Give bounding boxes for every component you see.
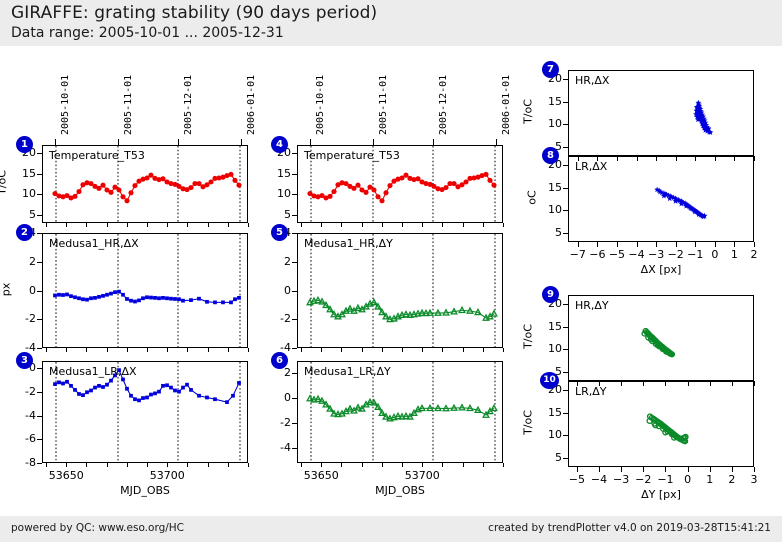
x-tick-mark [463,463,464,467]
date-tick-mark [496,139,497,145]
x-tick-mark [710,381,711,386]
y-tick-mark [563,165,568,166]
x-tick-mark [187,463,188,467]
y-tick-label: 5 [534,226,562,239]
x-tick-mark [402,463,403,467]
plot-panel-3: Medusa1_LR,ΔX [42,361,248,463]
x-tick-label: 2 [740,248,768,261]
plot-canvas-8 [569,157,753,241]
x-tick-mark [676,156,677,161]
x-tick-mark [715,242,716,247]
y-tick-mark [37,368,42,369]
x-tick-mark [715,156,716,161]
x-tick-mark [643,381,644,386]
y-tick-label: 0 [263,284,291,297]
y-tick-mark [37,439,42,440]
x-tick-mark [127,463,128,467]
x-tick-mark [167,463,168,467]
plot-frame-4: Temperature_T53 [297,145,503,223]
plot-panel-9: HR,ΔY [568,295,754,381]
date-tick-mark [118,139,119,145]
y-tick-label: -6 [8,432,36,445]
y-tick-mark [37,174,42,175]
plot-frame-3: Medusa1_LR,ΔX [42,361,248,463]
date-tick-mark [373,139,374,145]
x-tick-mark [688,381,689,386]
y-tick-mark [37,262,42,263]
y-tick-mark [292,194,297,195]
y-tick-mark [292,398,297,399]
x-tick-mark [734,156,735,161]
y-tick-label: 5 [534,451,562,464]
plot-canvas-2 [43,234,247,347]
y-tick-mark [292,348,297,349]
x-tick-mark [86,223,87,227]
y-tick-label: 10 [534,428,562,441]
plot-canvas-6 [298,362,502,462]
x-tick-mark [321,463,322,467]
x-tick-label: 53700 [396,469,448,482]
x-tick-mark [167,223,168,227]
x-axis-label: ΔX [px] [568,263,754,276]
x-tick-mark [665,467,666,472]
x-tick-mark [754,467,755,472]
panel-badge-2[interactable]: 2 [16,224,33,241]
y-axis-label: T/oC [522,393,535,453]
x-tick-mark [127,348,128,352]
data-range-subtitle: Data range: 2005-10-01 ... 2005-12-31 [11,25,284,41]
x-tick-mark [46,223,47,227]
x-tick-mark [321,348,322,352]
x-tick-mark [503,223,504,227]
x-tick-mark [695,242,696,247]
y-tick-mark [563,435,568,436]
x-tick-mark [402,348,403,352]
x-tick-mark [442,223,443,227]
y-tick-label: 10 [263,187,291,200]
x-tick-mark [248,348,249,352]
date-tick-label: 2006-01-01 [246,75,257,135]
plot-canvas-10 [569,382,753,466]
x-tick-mark [578,156,579,161]
y-tick-mark [37,319,42,320]
x-tick-mark [107,463,108,467]
y-tick-mark [37,233,42,234]
y-tick-label: 15 [8,167,36,180]
panel-badge-9[interactable]: 9 [542,286,559,303]
y-tick-mark [37,153,42,154]
plot-panel-2: Medusa1_HR,ΔX [42,233,248,348]
x-tick-mark [66,223,67,227]
date-tick-mark [178,139,179,145]
x-tick-mark [710,467,711,472]
x-tick-mark [362,348,363,352]
y-tick-mark [292,215,297,216]
y-tick-label: -2 [263,312,291,325]
x-tick-mark [442,348,443,352]
date-tick-label: 2005-11-01 [123,75,134,135]
x-axis-label: ΔY [px] [568,488,754,501]
x-tick-mark [86,463,87,467]
y-tick-label: 15 [534,406,562,419]
x-tick-label: 3 [740,473,768,486]
x-axis-label: MJD_OBS [42,484,248,497]
x-tick-mark [321,223,322,227]
x-tick-mark [665,381,666,386]
y-tick-mark [563,390,568,391]
x-tick-mark [617,156,618,161]
y-tick-label: 10 [534,342,562,355]
plot-frame-10: LR,ΔY [568,381,754,467]
x-axis-label: MJD_OBS [297,484,503,497]
x-tick-mark [46,348,47,352]
panel-badge-3[interactable]: 3 [16,352,33,369]
plot-canvas-5 [298,234,502,347]
x-tick-mark [599,467,600,472]
page-footer: powered by QC: www.eso.org/HC created by… [0,516,782,542]
y-axis-label: px [0,259,13,319]
y-tick-mark [292,262,297,263]
plot-panel-5: Medusa1_HR,ΔY [297,233,503,348]
y-tick-label: 15 [263,167,291,180]
plot-panel-4: Temperature_T53 [297,145,503,223]
x-tick-mark [599,381,600,386]
y-tick-mark [563,349,568,350]
y-tick-mark [292,423,297,424]
x-tick-mark [228,463,229,467]
y-axis-label: T/oC [522,307,535,367]
plot-frame-5: Medusa1_HR,ΔY [297,233,503,348]
y-tick-label: -2 [8,385,36,398]
y-tick-label: 10 [534,117,562,130]
x-tick-mark [621,467,622,472]
plot-panel-6: Medusa1_LR,ΔY [297,361,503,463]
y-tick-label: -4 [8,409,36,422]
y-tick-mark [563,79,568,80]
y-tick-mark [563,147,568,148]
x-tick-mark [248,463,249,467]
date-tick-label: 2005-10-01 [315,75,326,135]
date-tick-label: 2005-12-01 [438,75,449,135]
y-tick-label: 5 [263,208,291,221]
x-tick-mark [382,223,383,227]
y-tick-mark [292,174,297,175]
date-tick-label: 2005-10-01 [60,75,71,135]
x-tick-mark [341,348,342,352]
y-tick-mark [292,233,297,234]
x-tick-mark [676,242,677,247]
panel-badge-1[interactable]: 1 [16,136,33,153]
plot-frame-1: Temperature_T53 [42,145,248,223]
y-tick-mark [37,291,42,292]
plot-panel-8: LR,ΔX [568,156,754,242]
trend-plot-page: GIRAFFE: grating stability (90 days peri… [0,0,782,542]
x-tick-mark [463,223,464,227]
x-tick-mark [656,156,657,161]
plot-canvas-9 [569,296,753,380]
x-tick-mark [754,156,755,161]
x-tick-mark [187,223,188,227]
y-axis-label: T/oC [0,153,9,213]
plot-canvas-1 [43,146,247,222]
x-tick-mark [86,348,87,352]
x-tick-mark [107,348,108,352]
plot-panel-7: HR,ΔX [568,70,754,156]
date-tick-mark [433,139,434,145]
y-tick-label: 10 [8,187,36,200]
date-tick-label: 2006-01-01 [501,75,512,135]
x-tick-mark [208,223,209,227]
x-tick-mark [483,348,484,352]
panel-badge-8[interactable]: 8 [542,147,559,164]
date-tick-mark [241,139,242,145]
y-tick-mark [563,304,568,305]
x-tick-mark [147,348,148,352]
plot-panel-1: Temperature_T53 [42,145,248,223]
x-tick-mark [228,223,229,227]
x-tick-mark [483,463,484,467]
y-tick-label: -2 [263,416,291,429]
x-tick-mark [597,156,598,161]
x-tick-mark [46,463,47,467]
date-tick-mark [55,139,56,145]
page-title: GIRAFFE: grating stability (90 days peri… [11,3,377,23]
x-tick-mark [301,223,302,227]
plot-frame-9: HR,ΔY [568,295,754,381]
date-tick-label: 2005-12-01 [183,75,194,135]
y-axis-label: oC [526,168,539,228]
x-tick-mark [637,242,638,247]
y-tick-mark [37,416,42,417]
x-tick-mark [656,242,657,247]
y-tick-mark [563,188,568,189]
x-tick-mark [695,156,696,161]
x-tick-mark [621,381,622,386]
x-tick-label: 53650 [295,469,347,482]
x-tick-mark [228,348,229,352]
y-tick-mark [37,463,42,464]
x-tick-mark [362,463,363,467]
x-tick-mark [754,381,755,386]
y-tick-mark [37,348,42,349]
y-tick-mark [292,153,297,154]
x-tick-mark [442,463,443,467]
x-tick-label: 53700 [141,469,193,482]
y-tick-mark [292,319,297,320]
footer-credit: powered by QC: www.eso.org/HC [11,522,184,534]
x-tick-mark [341,223,342,227]
page-header: GIRAFFE: grating stability (90 days peri… [0,0,782,46]
y-tick-mark [292,291,297,292]
y-tick-mark [563,210,568,211]
y-tick-mark [563,372,568,373]
y-tick-mark [292,448,297,449]
y-axis-label: T/oC [522,82,535,142]
plot-frame-7: HR,ΔX [568,70,754,156]
x-tick-mark [66,348,67,352]
plot-canvas-3 [43,362,247,462]
y-tick-mark [563,413,568,414]
x-tick-mark [382,348,383,352]
x-tick-mark [463,348,464,352]
y-tick-mark [563,458,568,459]
x-tick-mark [66,463,67,467]
x-tick-mark [208,463,209,467]
x-tick-mark [503,463,504,467]
x-tick-mark [483,223,484,227]
x-tick-mark [147,223,148,227]
y-tick-label: 5 [8,208,36,221]
y-tick-label: -8 [8,456,36,469]
x-tick-mark [754,242,755,247]
plot-frame-2: Medusa1_HR,ΔX [42,233,248,348]
x-tick-mark [341,463,342,467]
plot-panel-10: LR,ΔY [568,381,754,467]
panel-badge-5[interactable]: 5 [271,224,288,241]
x-tick-mark [577,381,578,386]
plot-canvas-7 [569,71,753,155]
x-tick-mark [578,242,579,247]
date-tick-mark [310,139,311,145]
x-tick-mark [617,242,618,247]
panel-badge-7[interactable]: 7 [542,61,559,78]
x-tick-mark [127,223,128,227]
x-tick-mark [107,223,108,227]
y-tick-mark [37,215,42,216]
x-tick-mark [167,348,168,352]
y-tick-label: 15 [534,320,562,333]
y-tick-mark [37,194,42,195]
x-tick-mark [301,463,302,467]
y-tick-label: 2 [263,255,291,268]
x-tick-mark [147,463,148,467]
x-tick-mark [422,348,423,352]
plot-frame-6: Medusa1_LR,ΔY [297,361,503,463]
x-tick-mark [732,467,733,472]
x-tick-mark [643,467,644,472]
y-tick-mark [563,233,568,234]
x-tick-mark [382,463,383,467]
x-tick-mark [732,381,733,386]
y-tick-mark [37,392,42,393]
panel-badge-10[interactable]: 10 [540,372,559,389]
panel-badge-4[interactable]: 4 [271,136,288,153]
plot-frame-8: LR,ΔX [568,156,754,242]
x-tick-mark [248,223,249,227]
x-tick-mark [208,348,209,352]
date-tick-label: 2005-11-01 [378,75,389,135]
x-tick-mark [362,223,363,227]
x-tick-mark [577,467,578,472]
y-tick-mark [292,373,297,374]
x-tick-mark [688,467,689,472]
y-tick-mark [563,102,568,103]
y-tick-label: -4 [263,441,291,454]
footer-generator: created by trendPlotter v4.0 on 2019-03-… [488,522,771,534]
x-tick-label: 53650 [40,469,92,482]
x-tick-mark [734,242,735,247]
x-tick-mark [637,156,638,161]
y-tick-label: 0 [263,391,291,404]
x-tick-mark [422,463,423,467]
x-tick-mark [301,348,302,352]
x-tick-mark [503,348,504,352]
y-tick-label: 15 [534,95,562,108]
plot-canvas-4 [298,146,502,222]
panel-badge-6[interactable]: 6 [271,352,288,369]
y-tick-mark [563,327,568,328]
x-tick-mark [402,223,403,227]
y-tick-mark [563,124,568,125]
x-tick-mark [422,223,423,227]
x-tick-mark [597,242,598,247]
x-tick-mark [187,348,188,352]
